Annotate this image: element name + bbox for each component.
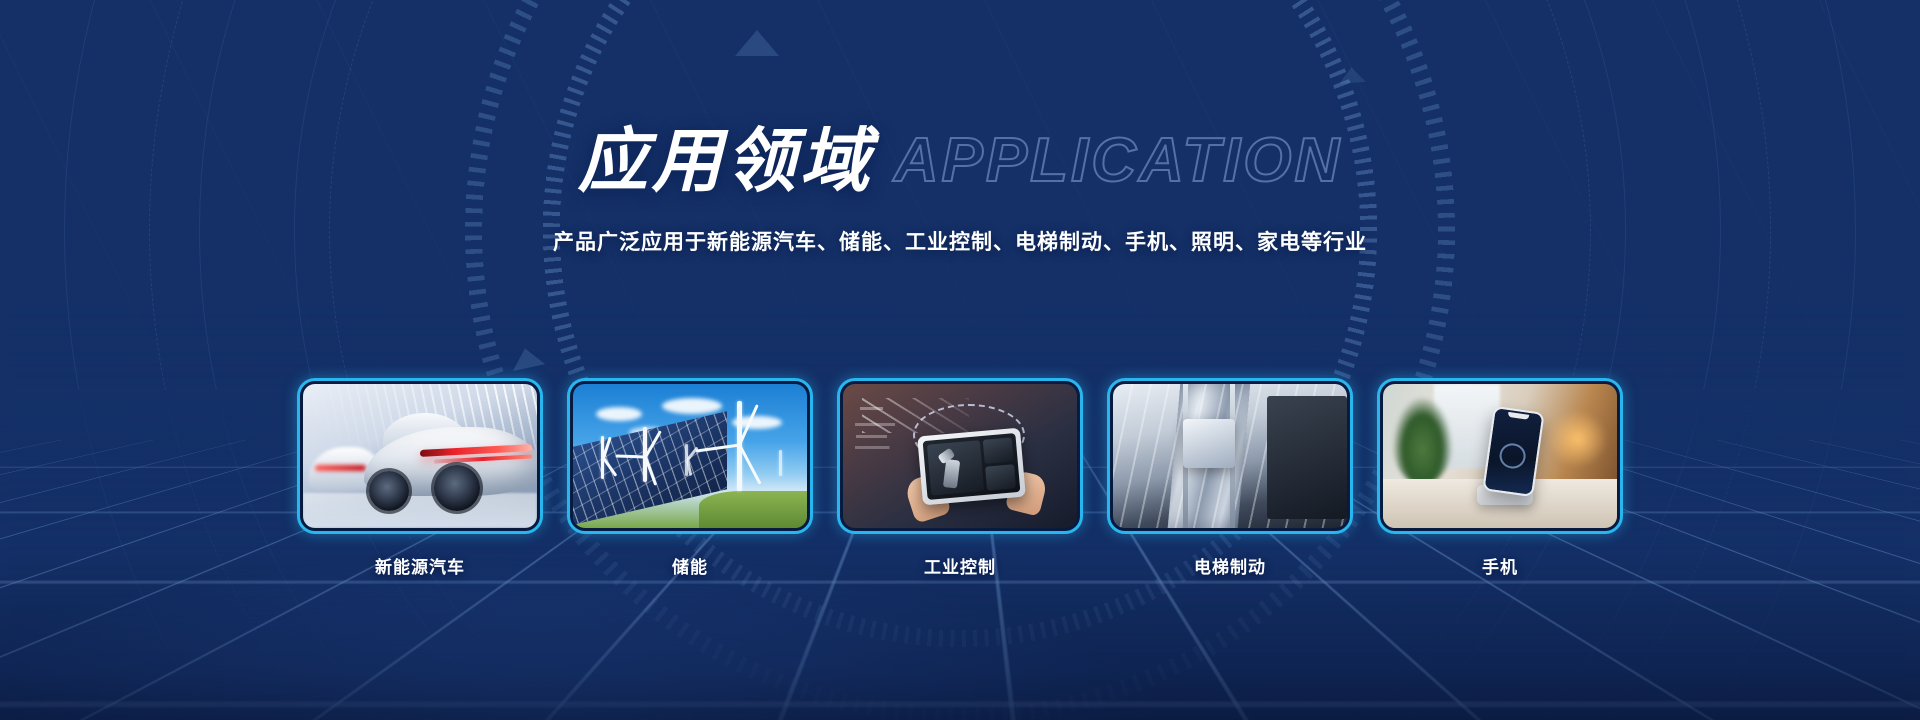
section-header: 应用领域 APPLICATION 产品广泛应用于新能源汽车、储能、工业控制、电梯… xyxy=(0,118,1920,256)
elevator-braking-photo xyxy=(1113,384,1347,528)
triangle-accent-1 xyxy=(735,30,779,56)
application-card-list: 新能源汽车 xyxy=(0,378,1920,578)
application-card-elevator-braking[interactable]: 电梯制动 xyxy=(1110,378,1350,578)
triangle-accent-3 xyxy=(1338,66,1365,83)
card-label: 手机 xyxy=(1482,553,1518,578)
title-row: 应用领域 APPLICATION xyxy=(0,118,1920,204)
triangle-accent-2 xyxy=(509,345,545,371)
application-card-energy-storage[interactable]: 储能 xyxy=(570,378,810,578)
card-label: 储能 xyxy=(672,553,708,578)
section-subtitle: 产品广泛应用于新能源汽车、储能、工业控制、电梯制动、手机、照明、家电等行业 xyxy=(0,226,1920,256)
card-thumbnail-frame[interactable] xyxy=(297,378,543,534)
application-card-industrial-control[interactable]: 工业控制 xyxy=(840,378,1080,578)
card-label: 电梯制动 xyxy=(1194,553,1266,578)
card-thumbnail-frame[interactable] xyxy=(1107,378,1353,534)
card-label: 新能源汽车 xyxy=(375,553,465,578)
card-thumbnail-frame[interactable] xyxy=(567,378,813,534)
application-card-new-energy-vehicle[interactable]: 新能源汽车 xyxy=(300,378,540,578)
card-label: 工业控制 xyxy=(924,553,996,578)
mobile-phone-photo xyxy=(1383,384,1617,528)
page-title: 应用领域 xyxy=(578,126,874,196)
page-title-english: APPLICATION xyxy=(894,130,1343,192)
industrial-control-photo xyxy=(843,384,1077,528)
application-card-mobile-phone[interactable]: 手机 xyxy=(1380,378,1620,578)
card-thumbnail-frame[interactable] xyxy=(837,378,1083,534)
energy-storage-photo xyxy=(573,384,807,528)
application-banner: 应用领域 APPLICATION 产品广泛应用于新能源汽车、储能、工业控制、电梯… xyxy=(0,0,1920,720)
new-energy-vehicle-photo xyxy=(303,384,537,528)
card-thumbnail-frame[interactable] xyxy=(1377,378,1623,534)
